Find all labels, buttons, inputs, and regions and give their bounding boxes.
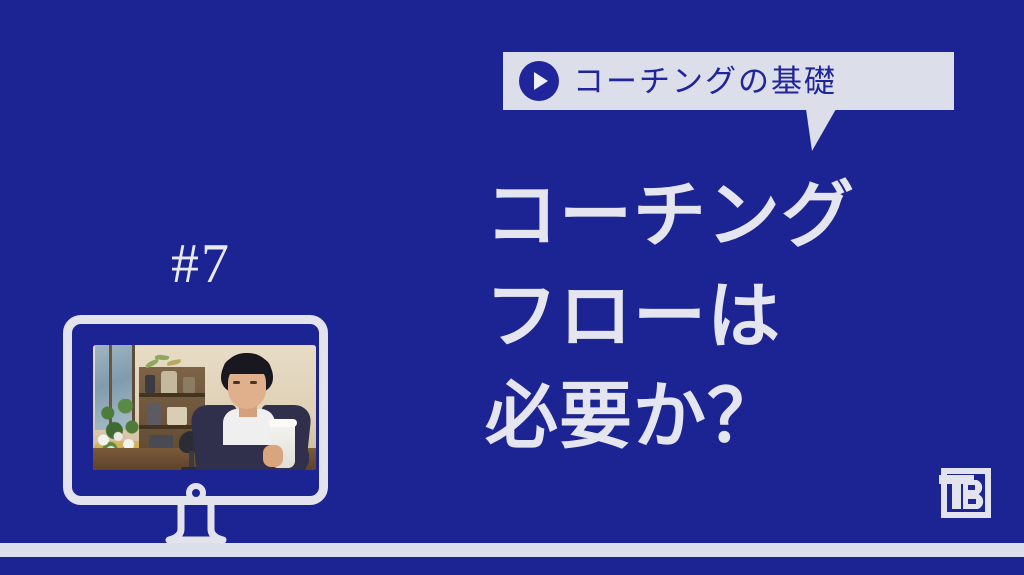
photo-person [197,353,316,470]
photo-hand [263,445,283,467]
photo-shelf-item [147,403,161,425]
slide-canvas: #7 [0,0,1024,575]
headline-line-1: コーチング [485,166,1005,267]
headline-line-2: フローは [485,267,1005,368]
photo-shelf-item [183,377,195,393]
photo-shelf-board [139,393,205,397]
page-title: コーチング フローは 必要か？ [485,166,1005,468]
photo-plant [145,353,187,375]
photo-shelf-item [167,407,187,425]
bottom-accent-strip [0,543,1024,557]
headline-line-3: 必要か？ [485,367,1005,468]
monitor-stand [165,505,227,543]
episode-number: #7 [136,236,266,292]
photo-shelf-item [145,375,155,393]
photo-leaf [167,359,182,366]
speech-bubble-tail [806,109,850,153]
photo-leaf [145,359,160,369]
category-badge-label: コーチングの基礎 [573,66,837,97]
monitor-frame [63,315,328,505]
monitor-camera-dot-icon [186,483,206,503]
photo-fringe [223,358,271,374]
monitor-screen-thumbnail [93,345,316,470]
monitor-illustration [63,315,328,545]
host-photo [93,345,316,470]
tb-logo [936,463,992,519]
category-badge[interactable]: コーチングの基礎 [503,52,954,110]
play-circle-icon [519,61,559,101]
